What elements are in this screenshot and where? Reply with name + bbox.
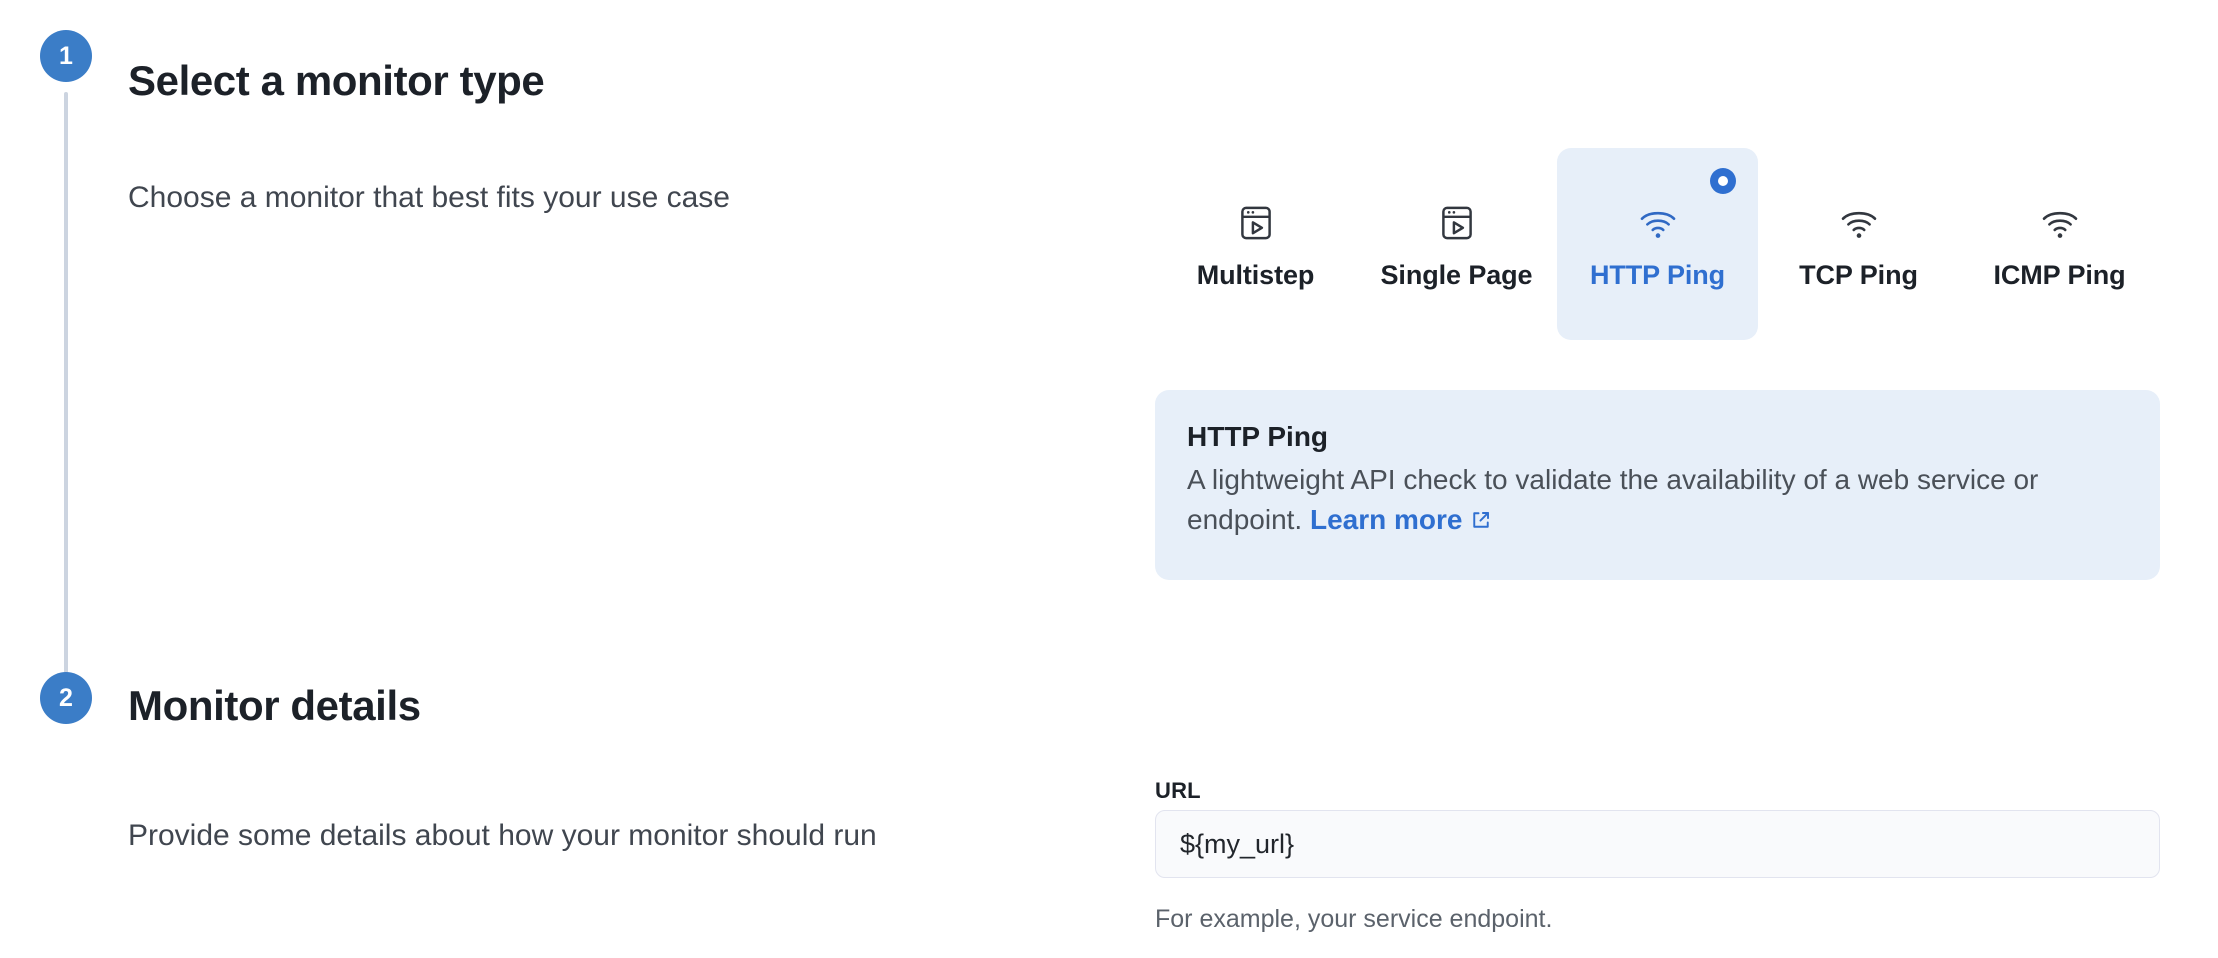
signal-icon [1638, 200, 1678, 246]
monitor-type-option-tcp-ping[interactable]: TCP Ping [1758, 148, 1959, 340]
external-link-icon [1470, 502, 1492, 542]
stepper-connector-line [64, 92, 68, 682]
monitor-type-option-icmp-ping[interactable]: ICMP Ping [1959, 148, 2160, 340]
url-field-help-text: For example, your service endpoint. [1155, 905, 1552, 934]
learn-more-label: Learn more [1310, 504, 1463, 535]
monitor-type-label: HTTP Ping [1590, 260, 1725, 291]
browser-play-icon [1440, 200, 1474, 246]
step-number-2: 2 [59, 686, 73, 711]
monitor-type-selector: Multistep Single Page [1155, 148, 2160, 340]
monitor-type-label: TCP Ping [1799, 260, 1918, 291]
radio-selected-icon[interactable] [1710, 168, 1736, 194]
step-title-2: Monitor details [128, 683, 421, 729]
monitor-type-info-box: HTTP Ping A lightweight API check to val… [1155, 390, 2160, 580]
monitor-type-option-single-page[interactable]: Single Page [1356, 148, 1557, 340]
monitor-type-label: Multistep [1197, 260, 1315, 291]
url-field-label: URL [1155, 778, 1201, 804]
monitor-type-option-multistep[interactable]: Multistep [1155, 148, 1356, 340]
learn-more-link[interactable]: Learn more [1310, 504, 1492, 535]
step-badge-2: 2 [40, 672, 92, 724]
step-badge-1: 1 [40, 30, 92, 82]
signal-icon [2040, 200, 2080, 246]
create-monitor-wizard: 1 Select a monitor type Choose a monitor… [0, 0, 2218, 958]
info-box-title: HTTP Ping [1187, 418, 2128, 456]
info-box-description: A lightweight API check to validate the … [1187, 460, 2128, 542]
monitor-type-label: ICMP Ping [1993, 260, 2125, 291]
url-input[interactable] [1155, 810, 2160, 878]
step-description-1: Choose a monitor that best fits your use… [128, 178, 730, 217]
monitor-type-option-http-ping[interactable]: HTTP Ping [1557, 148, 1758, 340]
monitor-type-label: Single Page [1381, 260, 1533, 291]
signal-icon [1839, 200, 1879, 246]
step-number-1: 1 [59, 44, 73, 69]
step-description-2: Provide some details about how your moni… [128, 816, 877, 855]
browser-play-icon [1239, 200, 1273, 246]
step-title-1: Select a monitor type [128, 58, 544, 104]
